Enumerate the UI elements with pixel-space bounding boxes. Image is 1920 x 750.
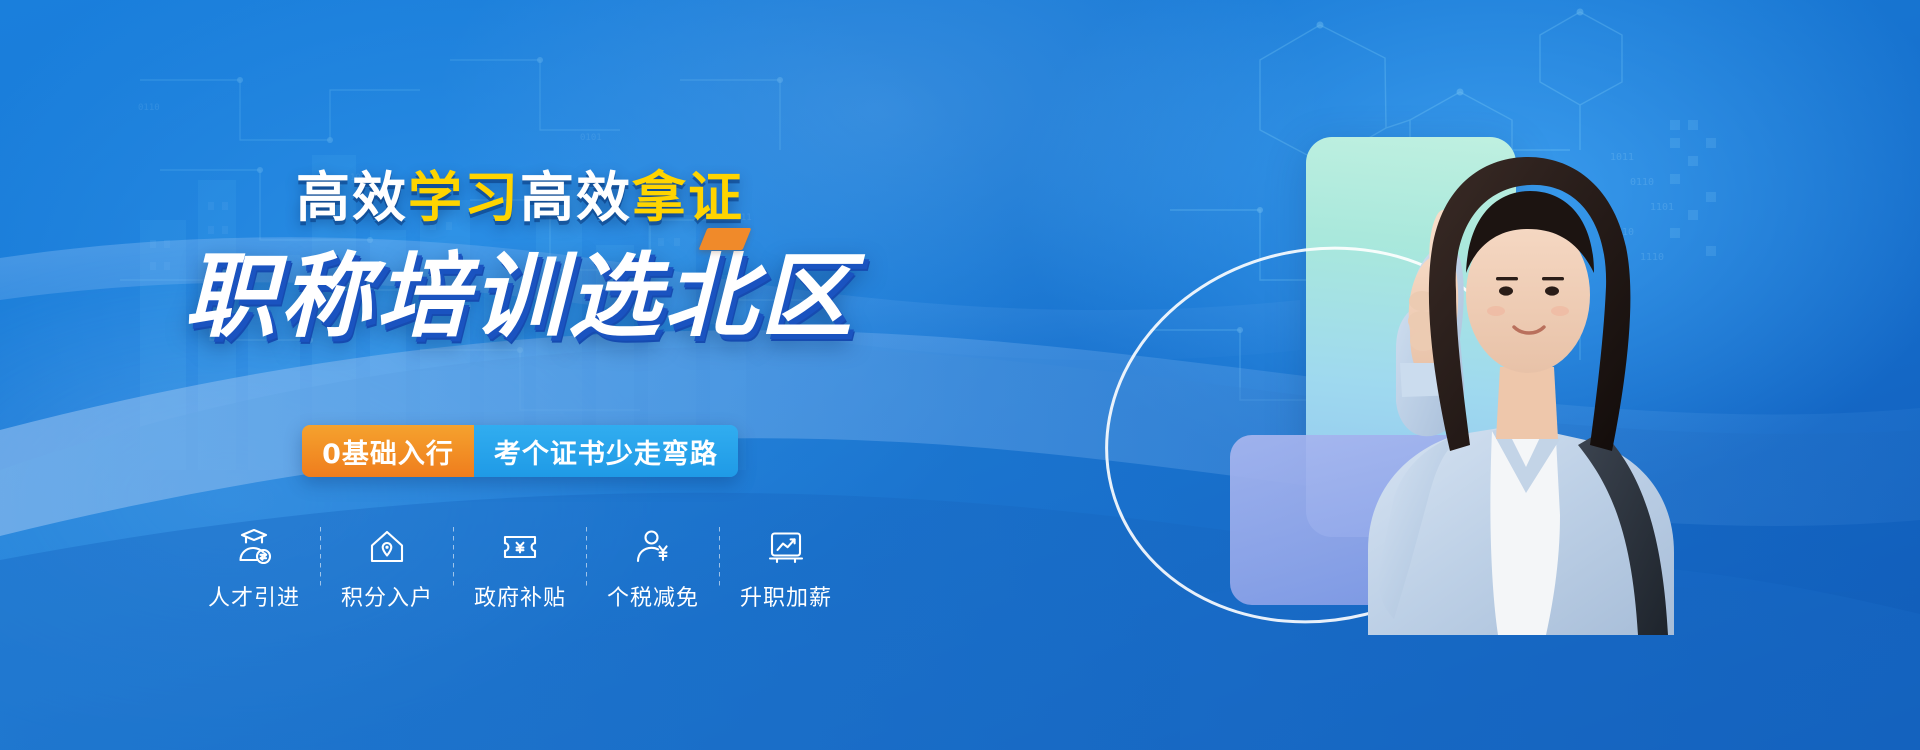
headline-subtitle: 高效学习高效拿证 xyxy=(0,153,1040,232)
chart-growth-icon xyxy=(765,525,807,569)
orange-accent-slash xyxy=(699,228,752,250)
tagline-pill-row: 0基础入行 考个证书少走弯路 xyxy=(0,425,1040,477)
pill-left-label: 0基础入行 xyxy=(302,425,474,477)
feature-item-tax-reduction[interactable]: 个税减免 xyxy=(587,525,719,612)
headline-sub-part-4: 拿证 xyxy=(632,166,744,229)
tagline-pill[interactable]: 0基础入行 考个证书少走弯路 xyxy=(302,425,738,477)
feature-item-government-subsidy[interactable]: 政府补贴 xyxy=(454,525,586,612)
hero-figure-composition xyxy=(1110,105,1670,625)
ticket-yuan-icon xyxy=(499,525,541,569)
pill-right-label: 考个证书少走弯路 xyxy=(474,425,738,477)
feature-item-talent-introduction[interactable]: 人才引进 xyxy=(188,525,320,612)
feature-label: 个税减免 xyxy=(607,580,699,612)
feature-row: 人才引进 积分入户 xyxy=(0,525,1040,612)
feature-label: 政府补贴 xyxy=(474,580,566,612)
feature-item-points-residency[interactable]: 积分入户 xyxy=(321,525,453,612)
feature-label: 积分入户 xyxy=(341,580,433,612)
feature-item-promotion-raise[interactable]: 升职加薪 xyxy=(720,525,852,612)
feature-divider xyxy=(719,527,720,589)
graduate-person-icon xyxy=(233,525,275,569)
feature-divider xyxy=(320,527,321,589)
person-yuan-icon xyxy=(632,525,674,569)
banner-content: 高效学习高效拿证 职称培训选北区 0基础入行 考个证书少走弯路 xyxy=(0,0,1150,750)
headline-sub-part-1: 高效 xyxy=(296,166,408,229)
headline-sub-part-3: 高效 xyxy=(520,166,632,229)
feature-label: 升职加薪 xyxy=(740,580,832,612)
promo-banner: 01101001 01011100 0011 xyxy=(0,0,1920,750)
feature-label: 人才引进 xyxy=(208,580,300,612)
feature-divider xyxy=(453,527,454,589)
feature-divider xyxy=(586,527,587,589)
house-location-icon xyxy=(366,525,408,569)
headline-sub-part-2: 学习 xyxy=(408,166,520,229)
pointing-woman-photo xyxy=(1260,95,1690,635)
headline-main: 职称培训选北区 xyxy=(0,222,1040,355)
